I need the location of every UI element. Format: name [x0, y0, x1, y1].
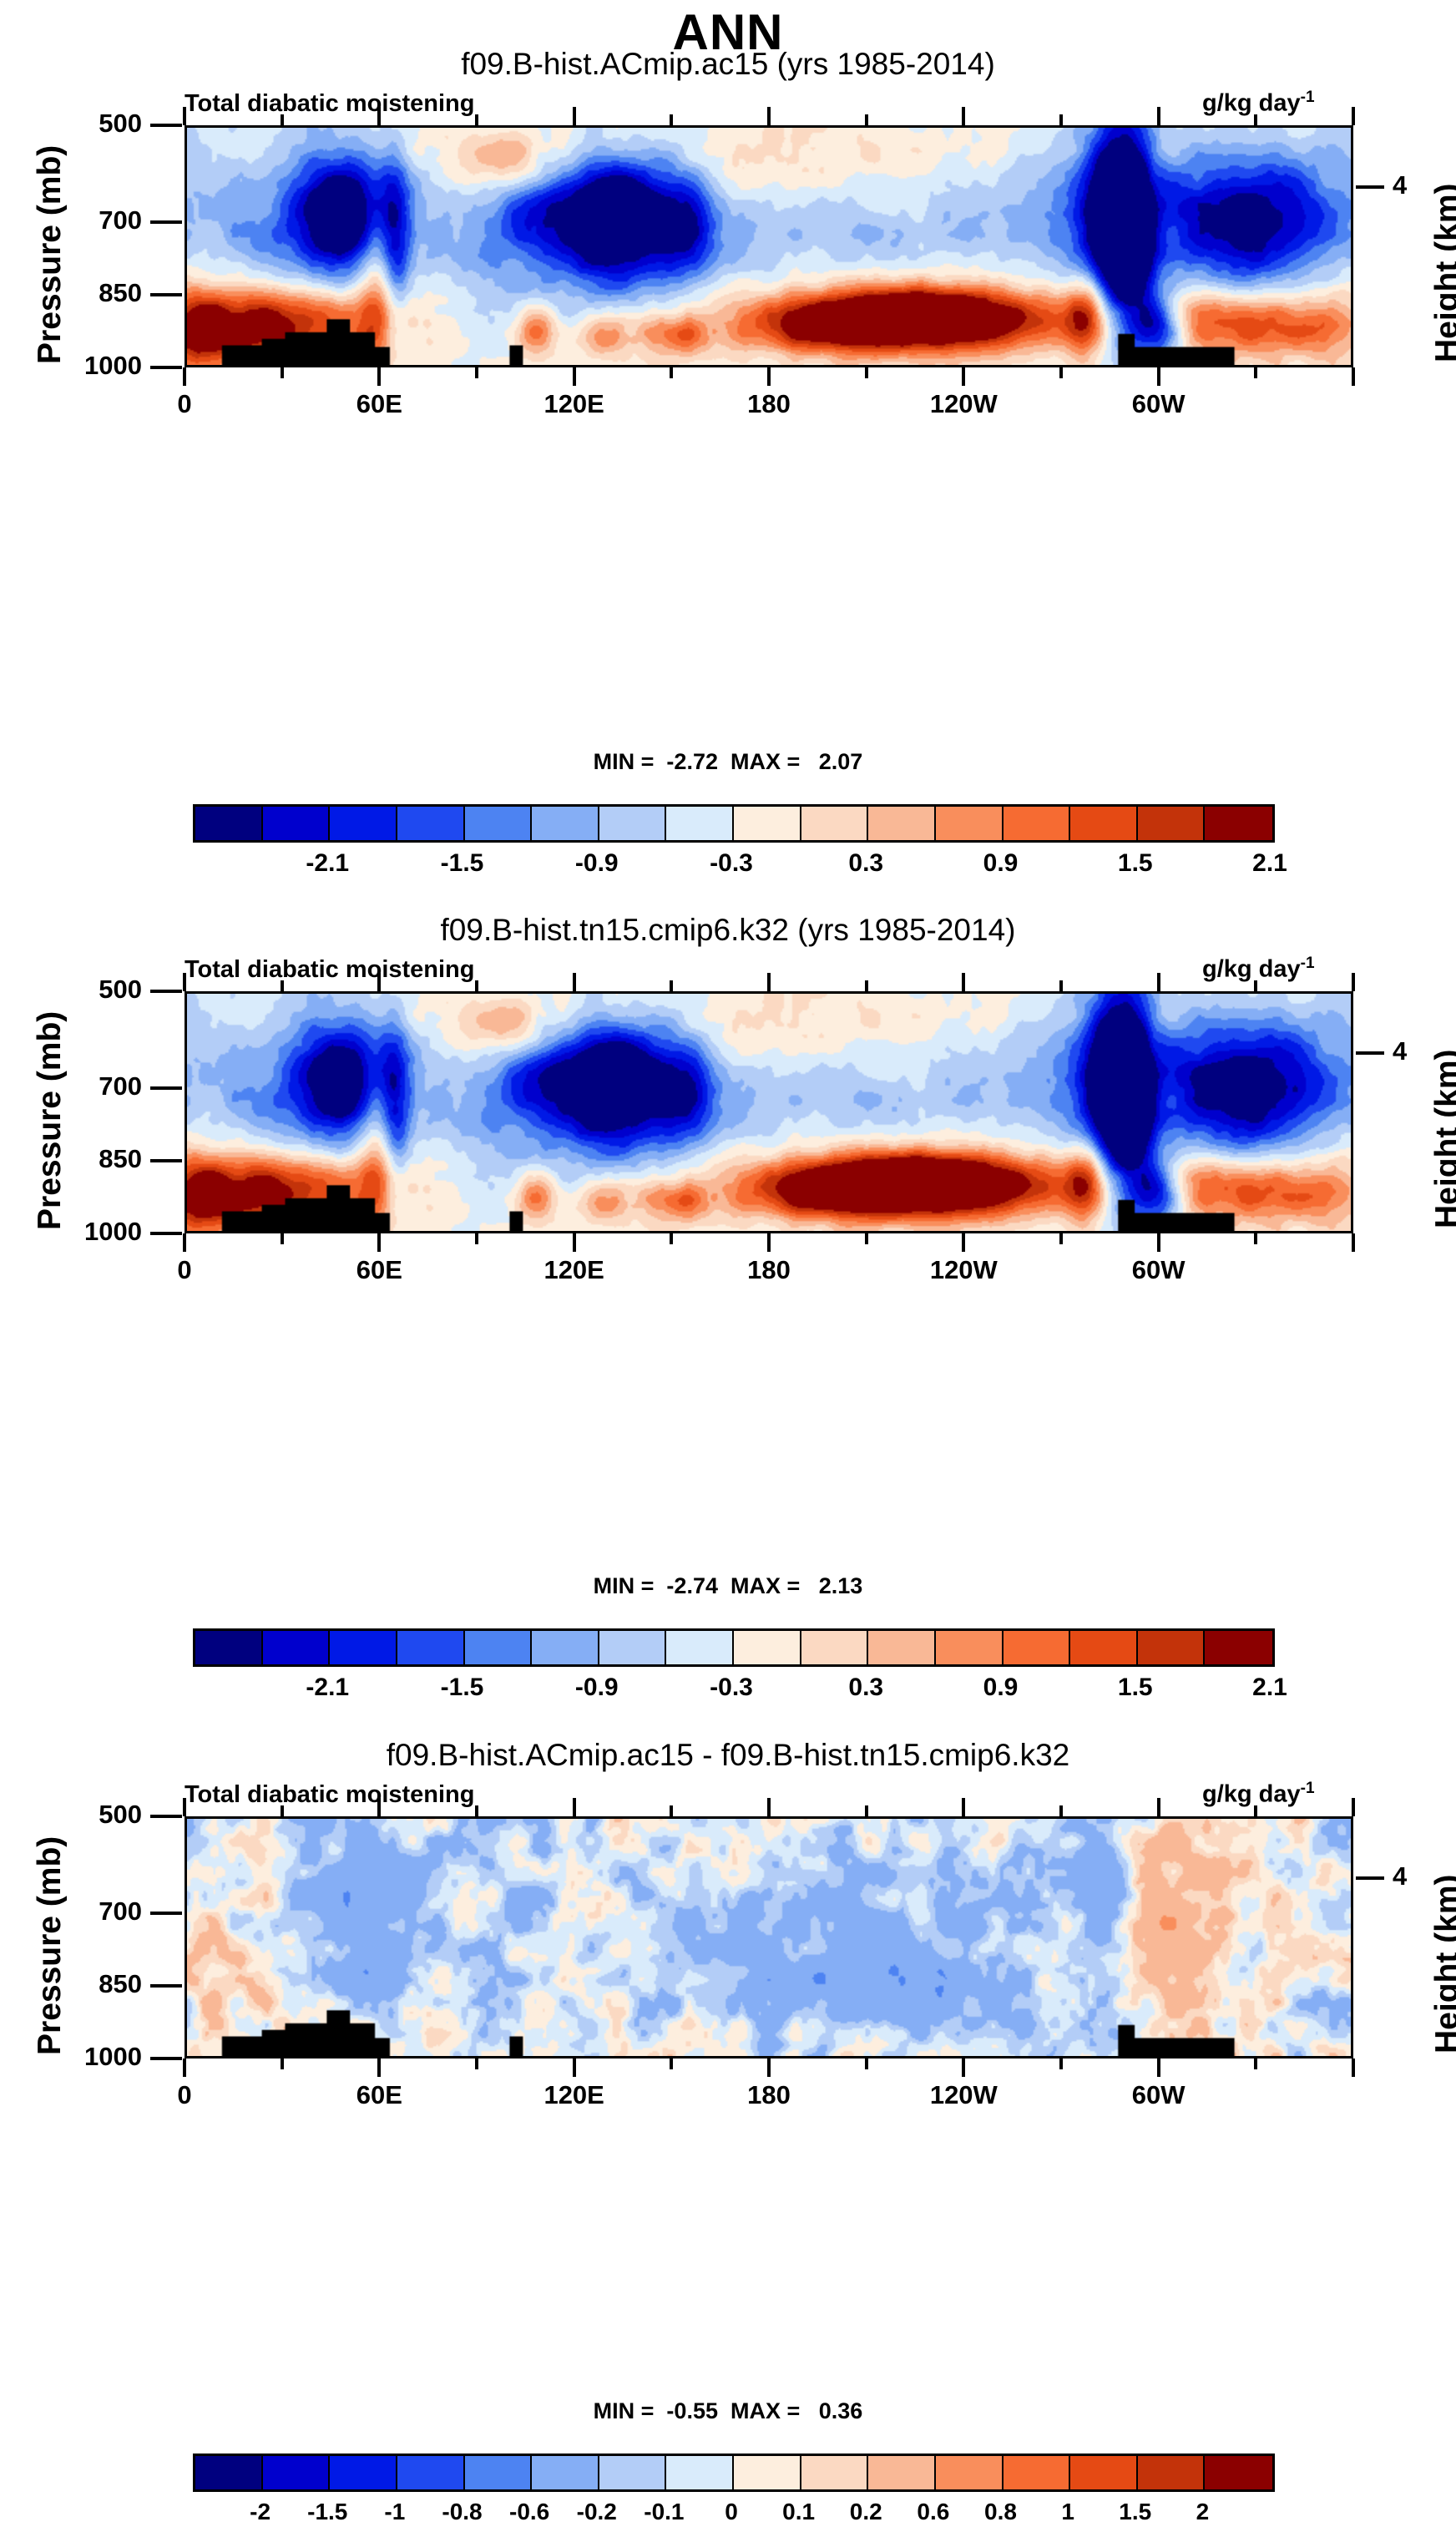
panel-2-x-tickmark-5 — [670, 1233, 673, 1244]
panel-2-x-tickmark-top-0 — [183, 973, 186, 991]
panel-2-x-tickmark-10 — [1157, 1233, 1160, 1252]
colorbar-3-cell-9 — [801, 2456, 869, 2489]
panel-2-x-tickmark-top-1 — [281, 980, 284, 991]
colorbar-1-cell-14 — [1138, 807, 1206, 840]
colorbar-1-cell-11 — [936, 807, 1004, 840]
panel-1-x-tickmark-top-0 — [183, 107, 186, 125]
panel-2-right-tick-4: 4 — [1393, 1036, 1407, 1066]
panel-1-right-tickmark-4 — [1356, 185, 1384, 189]
panel-1-colorbar-labels: -2.1-1.5-0.9-0.30.30.91.52.1 — [193, 849, 1270, 883]
panel-2-x-tickmark-top-6 — [767, 973, 771, 991]
colorbar-3-label-1: 1 — [1061, 2499, 1074, 2525]
panel-3-y-tick-700: 700 — [17, 1896, 142, 1927]
panel-1-x-tickmark-6 — [767, 367, 771, 386]
panel-2-x-tickmark-top-4 — [573, 973, 576, 991]
panel-3-x-tickmark-top-0 — [183, 1798, 186, 1816]
panel-3-x-tickmark-top-2 — [377, 1798, 381, 1816]
panel-2-x-tickmark-7 — [865, 1233, 868, 1244]
panel-3-x-tickmark-top-7 — [865, 1805, 868, 1816]
panel-2-y-axis-label: Pressure (mb) — [32, 1011, 68, 1230]
panel-3-y-tick-500: 500 — [17, 1800, 142, 1830]
panel-3-units: g/kg day-1 — [1202, 1780, 1315, 1809]
panel-1-y-tick-700: 700 — [17, 205, 142, 235]
panel-2-title: f09.B-hist.tn15.cmip6.k32 (yrs 1985-2014… — [0, 913, 1456, 948]
panel-3-x-tickmark-top-11 — [1254, 1805, 1257, 1816]
panel-1-x-tickmark-top-2 — [377, 107, 381, 125]
panel-3-field-label: Total diabatic moistening — [185, 1781, 475, 1809]
panel-3-y-tickmark-500 — [150, 1815, 182, 1818]
colorbar-1-label--1.5: -1.5 — [441, 849, 484, 878]
panel-2-x-tickmark-top-10 — [1157, 973, 1160, 991]
panel-3-units-text: g/kg day — [1202, 1781, 1301, 1808]
panel-3-x-tickmark-7 — [865, 2059, 868, 2069]
panel-2-colorbar[interactable] — [193, 1628, 1275, 1667]
colorbar-3-cell-2 — [330, 2456, 397, 2489]
panel-1-x-tickmark-4 — [573, 367, 576, 386]
panel-3-x-tickmark-2 — [377, 2059, 381, 2077]
panel-2-units-exponent: -1 — [1301, 955, 1315, 972]
panel-3-colorbar-labels: -2-1.5-1-0.8-0.6-0.2-0.100.10.20.60.811.… — [193, 2499, 1270, 2532]
panel-1-x-tickmark-10 — [1157, 367, 1160, 386]
panel-2-y-tickmark-700 — [150, 1086, 182, 1090]
colorbar-3-cell-5 — [532, 2456, 599, 2489]
panel-2-x-tickmark-1 — [281, 1233, 284, 1244]
panel-3-x-tickmark-top-4 — [573, 1798, 576, 1816]
colorbar-3-label--2: -2 — [250, 2499, 270, 2525]
colorbar-2-cell-5 — [532, 1631, 599, 1664]
panel-2-units: g/kg day-1 — [1202, 955, 1315, 984]
colorbar-1-label--2.1: -2.1 — [306, 849, 349, 878]
panel-2-x-tickmark-top-12 — [1352, 973, 1355, 991]
colorbar-3-label--0.2: -0.2 — [577, 2499, 617, 2525]
panel-1-y-tick-1000: 1000 — [17, 351, 142, 381]
panel-2-right-tickmark-4 — [1356, 1051, 1384, 1055]
colorbar-1-cell-5 — [532, 807, 599, 840]
panel-1-x-tickmark-12 — [1352, 367, 1355, 386]
panel-1-y-tickmark-850 — [150, 293, 182, 296]
panel-3-x-tickmark-top-9 — [1059, 1805, 1063, 1816]
colorbar-1-label-0.9: 0.9 — [983, 849, 1019, 878]
panel-3-x-tickmark-10 — [1157, 2059, 1160, 2077]
panel-2-x-tickmark-top-11 — [1254, 980, 1257, 991]
panel-1-y-tick-850: 850 — [17, 278, 142, 308]
panel-1-y-tick-500: 500 — [17, 109, 142, 139]
panel-3-units-exponent: -1 — [1301, 1780, 1315, 1797]
colorbar-1-cell-15 — [1205, 807, 1272, 840]
colorbar-3-cell-1 — [263, 2456, 331, 2489]
panel-2-x-tickmark-2 — [377, 1233, 381, 1252]
colorbar-1-cell-6 — [599, 807, 667, 840]
colorbar-2-cell-13 — [1070, 1631, 1138, 1664]
panel-2-x-tickmark-top-5 — [670, 980, 673, 991]
colorbar-1-cell-2 — [330, 807, 397, 840]
panel-1-x-tickmark-top-12 — [1352, 107, 1355, 125]
colorbar-1-cell-1 — [263, 807, 331, 840]
colorbar-3-label-0.8: 0.8 — [984, 2499, 1017, 2525]
panel-3-y-tickmark-700 — [150, 1912, 182, 1915]
colorbar-3-label-0.2: 0.2 — [850, 2499, 882, 2525]
panel-3-x-tick-0: 0 — [126, 2080, 243, 2110]
panel-2-x-tickmark-4 — [573, 1233, 576, 1252]
panel-2-x-tickmark-top-7 — [865, 980, 868, 991]
panel-1-x-tick-60W: 60W — [1100, 389, 1217, 419]
panel-3-x-tickmark-top-6 — [767, 1798, 771, 1816]
panel-3-x-tick-60W: 60W — [1100, 2080, 1217, 2110]
panel-1-x-tickmark-11 — [1254, 367, 1257, 378]
panel-2-plot — [185, 991, 1353, 1233]
panel-2-x-tick-120W: 120W — [905, 1255, 1022, 1285]
colorbar-3-cell-7 — [666, 2456, 734, 2489]
colorbar-1-cell-0 — [195, 807, 263, 840]
colorbar-3-label-0.1: 0.1 — [782, 2499, 815, 2525]
panel-1-x-tickmark-top-4 — [573, 107, 576, 125]
panel-3-x-tick-60E: 60E — [321, 2080, 437, 2110]
panel-2-units-text: g/kg day — [1202, 956, 1301, 983]
panel-1-plot — [185, 125, 1353, 367]
panel-1-y-tickmark-700 — [150, 220, 182, 224]
panel-2-contour-canvas — [187, 994, 1351, 1231]
colorbar-2-label--0.3: -0.3 — [710, 1674, 753, 1702]
panel-3-x-tickmark-top-8 — [962, 1798, 965, 1816]
panel-3-x-tick-120E: 120E — [516, 2080, 633, 2110]
panel-2-x-tickmark-9 — [1059, 1233, 1063, 1244]
panel-3-colorbar[interactable] — [193, 2454, 1275, 2492]
panel-3-x-tickmark-top-10 — [1157, 1798, 1160, 1816]
panel-1-y-tickmark-1000 — [150, 366, 182, 369]
colorbar-3-label--1.5: -1.5 — [307, 2499, 347, 2525]
panel-1-x-tickmark-3 — [475, 367, 478, 378]
colorbar-2-label--1.5: -1.5 — [441, 1674, 484, 1702]
panel-1-field-label: Total diabatic moistening — [185, 90, 475, 118]
colorbar-3-label--1: -1 — [384, 2499, 405, 2525]
panel-1-right-axis-label: Height (km) — [1429, 184, 1456, 363]
panel-2-colorbar-labels: -2.1-1.5-0.9-0.30.30.91.52.1 — [193, 1674, 1270, 1707]
panel-3-minmax: MIN = -0.55 MAX = 0.36 — [0, 2398, 1456, 2424]
colorbar-1-label-0.3: 0.3 — [848, 849, 883, 878]
colorbar-3-label-0: 0 — [725, 2499, 738, 2525]
panel-2-field-label: Total diabatic moistening — [185, 956, 475, 984]
colorbar-2-label-0.9: 0.9 — [983, 1674, 1019, 1702]
colorbar-2-cell-7 — [666, 1631, 734, 1664]
panel-1-x-tickmark-7 — [865, 367, 868, 378]
colorbar-3-cell-13 — [1070, 2456, 1138, 2489]
panel-2-x-tickmark-top-3 — [475, 980, 478, 991]
panel-3-right-axis-label: Height (km) — [1429, 1875, 1456, 2054]
panel-1-units-text: g/kg day — [1202, 90, 1301, 117]
panel-2-x-tickmark-0 — [183, 1233, 186, 1252]
panel-3-x-tickmark-5 — [670, 2059, 673, 2069]
panel-2-y-tick-500: 500 — [17, 975, 142, 1005]
panel-2-x-tickmark-top-8 — [962, 973, 965, 991]
panel-3-y-tick-850: 850 — [17, 1969, 142, 1999]
colorbar-1-cell-3 — [397, 807, 465, 840]
colorbar-3-cell-10 — [868, 2456, 936, 2489]
panel-3-x-tickmark-6 — [767, 2059, 771, 2077]
panel-2-y-tickmark-1000 — [150, 1232, 182, 1235]
colorbar-1-cell-10 — [868, 807, 936, 840]
panel-1-x-tick-0: 0 — [126, 389, 243, 419]
panel-1-x-tick-180: 180 — [710, 389, 827, 419]
panel-1-units: g/kg day-1 — [1202, 89, 1315, 118]
colorbar-3-label-2: 2 — [1196, 2499, 1210, 2525]
panel-2-x-tickmark-11 — [1254, 1233, 1257, 1244]
panel-3-y-axis-label: Pressure (mb) — [32, 1836, 68, 2055]
colorbar-1-cell-13 — [1070, 807, 1138, 840]
panel-3-x-tickmark-9 — [1059, 2059, 1063, 2069]
panel-1-colorbar[interactable] — [193, 804, 1275, 843]
panel-3-x-tick-180: 180 — [710, 2080, 827, 2110]
panel-1-x-tickmark-1 — [281, 367, 284, 378]
panel-1-contour-canvas — [187, 128, 1351, 365]
colorbar-2-cell-14 — [1138, 1631, 1206, 1664]
panel-3-x-tickmark-0 — [183, 2059, 186, 2077]
panel-1-x-tickmark-2 — [377, 367, 381, 386]
panel-3-x-tickmark-4 — [573, 2059, 576, 2077]
colorbar-2-cell-8 — [734, 1631, 801, 1664]
panel-3-y-tick-1000: 1000 — [17, 2042, 142, 2072]
panel-2-y-tick-700: 700 — [17, 1071, 142, 1101]
colorbar-1-cell-4 — [465, 807, 533, 840]
colorbar-3-cell-14 — [1138, 2456, 1206, 2489]
panel-3-x-tickmark-top-12 — [1352, 1798, 1355, 1816]
panel-1-x-tickmark-top-1 — [281, 114, 284, 125]
panel-2-x-tick-120E: 120E — [516, 1255, 633, 1285]
panel-2-y-tickmark-500 — [150, 990, 182, 993]
colorbar-2-label--2.1: -2.1 — [306, 1674, 349, 1702]
panel-1-x-tickmark-top-5 — [670, 114, 673, 125]
panel-2-y-tick-1000: 1000 — [17, 1217, 142, 1247]
colorbar-2-cell-10 — [868, 1631, 936, 1664]
colorbar-2-cell-2 — [330, 1631, 397, 1664]
panel-1-y-axis-label: Pressure (mb) — [32, 145, 68, 364]
panel-2-y-tick-850: 850 — [17, 1144, 142, 1174]
panel-2-x-tickmark-3 — [475, 1233, 478, 1244]
colorbar-1-label--0.3: -0.3 — [710, 849, 753, 878]
colorbar-2-cell-12 — [1004, 1631, 1071, 1664]
panel-1-x-tickmark-top-10 — [1157, 107, 1160, 125]
panel-3-x-tick-120W: 120W — [905, 2080, 1022, 2110]
panel-1-minmax: MIN = -2.72 MAX = 2.07 — [0, 749, 1456, 775]
colorbar-2-cell-15 — [1205, 1631, 1272, 1664]
panel-3-x-tickmark-top-5 — [670, 1805, 673, 1816]
panel-3-x-tickmark-3 — [475, 2059, 478, 2069]
colorbar-3-cell-3 — [397, 2456, 465, 2489]
colorbar-3-cell-6 — [599, 2456, 667, 2489]
panel-1-x-tickmark-8 — [962, 367, 965, 386]
panel-3-title: f09.B-hist.ACmip.ac15 - f09.B-hist.tn15.… — [0, 1738, 1456, 1773]
colorbar-1-cell-9 — [801, 807, 869, 840]
colorbar-1-label--0.9: -0.9 — [575, 849, 619, 878]
panel-1-x-tickmark-top-9 — [1059, 114, 1063, 125]
panel-3-x-tickmark-1 — [281, 2059, 284, 2069]
panel-3-right-tickmark-4 — [1356, 1876, 1384, 1880]
colorbar-2-cell-1 — [263, 1631, 331, 1664]
colorbar-3-cell-0 — [195, 2456, 263, 2489]
panel-2-x-tickmark-top-9 — [1059, 980, 1063, 991]
colorbar-2-cell-11 — [936, 1631, 1004, 1664]
colorbar-2-label-1.5: 1.5 — [1118, 1674, 1153, 1702]
panel-1-x-tickmark-5 — [670, 367, 673, 378]
colorbar-3-cell-15 — [1205, 2456, 1272, 2489]
colorbar-2-label-2.1: 2.1 — [1252, 1674, 1287, 1702]
panel-1-x-tick-120W: 120W — [905, 389, 1022, 419]
colorbar-3-cell-4 — [465, 2456, 533, 2489]
panel-3-plot — [185, 1816, 1353, 2059]
panel-1-x-tickmark-9 — [1059, 367, 1063, 378]
panel-3-right-tick-4: 4 — [1393, 1861, 1407, 1891]
colorbar-1-label-1.5: 1.5 — [1118, 849, 1153, 878]
panel-2-x-tickmark-12 — [1352, 1233, 1355, 1252]
colorbar-2-cell-9 — [801, 1631, 869, 1664]
panel-3-x-tickmark-8 — [962, 2059, 965, 2077]
colorbar-1-cell-12 — [1004, 807, 1071, 840]
colorbar-3-cell-12 — [1004, 2456, 1071, 2489]
panel-2-minmax: MIN = -2.74 MAX = 2.13 — [0, 1573, 1456, 1599]
panel-1-x-tick-60E: 60E — [321, 389, 437, 419]
panel-2-x-tick-0: 0 — [126, 1255, 243, 1285]
panel-1-y-tickmark-500 — [150, 124, 182, 127]
colorbar-2-cell-3 — [397, 1631, 465, 1664]
colorbar-3-label-1.5: 1.5 — [1119, 2499, 1151, 2525]
panel-3-y-tickmark-850 — [150, 1984, 182, 1988]
panel-3-contour-canvas — [187, 1819, 1351, 2056]
panel-1-x-tickmark-top-11 — [1254, 114, 1257, 125]
panel-3-x-tickmark-11 — [1254, 2059, 1257, 2069]
panel-1-x-tickmark-top-3 — [475, 114, 478, 125]
panel-1-x-tickmark-0 — [183, 367, 186, 386]
colorbar-2-cell-4 — [465, 1631, 533, 1664]
colorbar-3-cell-11 — [936, 2456, 1004, 2489]
colorbar-2-label-0.3: 0.3 — [848, 1674, 883, 1702]
panel-3-x-tickmark-12 — [1352, 2059, 1355, 2077]
panel-2-x-tick-180: 180 — [710, 1255, 827, 1285]
colorbar-1-cell-8 — [734, 807, 801, 840]
panel-1-x-tickmark-top-7 — [865, 114, 868, 125]
panel-2-x-tick-60W: 60W — [1100, 1255, 1217, 1285]
colorbar-3-cell-8 — [734, 2456, 801, 2489]
panel-1-x-tick-120E: 120E — [516, 389, 633, 419]
panel-2-y-tickmark-850 — [150, 1159, 182, 1162]
colorbar-3-label--0.1: -0.1 — [644, 2499, 684, 2525]
panel-2-x-tickmark-top-2 — [377, 973, 381, 991]
colorbar-2-cell-6 — [599, 1631, 667, 1664]
panel-1-title: f09.B-hist.ACmip.ac15 (yrs 1985-2014) — [0, 47, 1456, 82]
panel-2-x-tickmark-8 — [962, 1233, 965, 1252]
panel-2-right-axis-label: Height (km) — [1429, 1050, 1456, 1229]
panel-3-x-tickmark-top-1 — [281, 1805, 284, 1816]
colorbar-2-cell-0 — [195, 1631, 263, 1664]
colorbar-3-label-0.6: 0.6 — [917, 2499, 949, 2525]
panel-1-units-exponent: -1 — [1301, 89, 1315, 106]
colorbar-3-label--0.6: -0.6 — [509, 2499, 549, 2525]
panel-1-x-tickmark-top-8 — [962, 107, 965, 125]
colorbar-1-cell-7 — [666, 807, 734, 840]
panel-1-right-tick-4: 4 — [1393, 170, 1407, 200]
panel-1-x-tickmark-top-6 — [767, 107, 771, 125]
panel-2-x-tickmark-6 — [767, 1233, 771, 1252]
colorbar-2-label--0.9: -0.9 — [575, 1674, 619, 1702]
colorbar-1-label-2.1: 2.1 — [1252, 849, 1287, 878]
panel-2-x-tick-60E: 60E — [321, 1255, 437, 1285]
panel-3-y-tickmark-1000 — [150, 2057, 182, 2060]
panel-3-x-tickmark-top-3 — [475, 1805, 478, 1816]
colorbar-3-label--0.8: -0.8 — [442, 2499, 482, 2525]
